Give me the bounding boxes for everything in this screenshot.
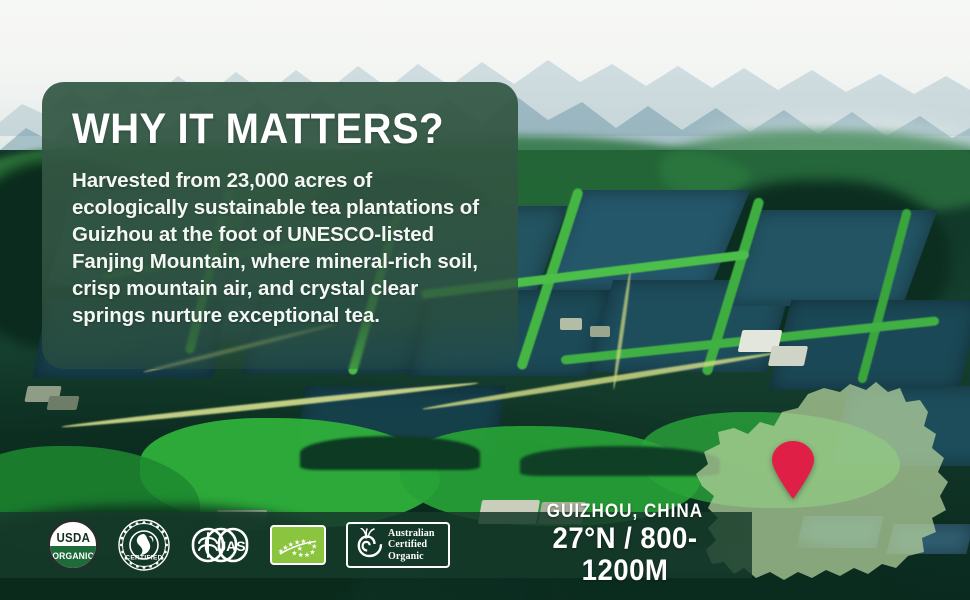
svg-text:CERTIFIED: CERTIFIED: [125, 555, 162, 562]
badge-usda-organic: USDA ORGANIC: [48, 520, 98, 570]
water-pond: [886, 524, 970, 554]
panel-body-text: Harvested from 23,000 acres of ecologica…: [72, 167, 488, 329]
aco-line-1: Australian: [388, 528, 435, 539]
badge-jas-organic: JAS: [190, 524, 250, 566]
aco-line-3: Organic: [388, 551, 424, 562]
conifer-row: [520, 446, 720, 476]
jas-organic-icon: JAS: [190, 524, 250, 566]
china-organic-seal-icon: CERTIFIED: [118, 519, 170, 571]
location-block: GUIZHOU, CHINA 27°N / 800-1200M: [500, 514, 750, 576]
why-it-matters-panel: WHY IT MATTERS? Harvested from 23,000 ac…: [42, 82, 518, 369]
usda-label-top: USDA: [56, 531, 90, 545]
aco-line-2: Certified: [388, 539, 427, 550]
location-place: GUIZHOU, CHINA: [547, 502, 703, 522]
page-title: WHY IT MATTERS?: [72, 108, 459, 151]
badge-australian-certified-organic: Australian Certified Organic: [346, 522, 450, 568]
eu-organic-euroleaf-icon: [270, 525, 326, 565]
aco-spiral-icon: [353, 528, 383, 562]
location-coordinates: 27°N / 800-1200M: [510, 523, 740, 588]
badge-china-organic: CERTIFIED: [118, 519, 170, 571]
village-building: [47, 396, 80, 410]
jas-label: JAS: [218, 538, 245, 554]
water-pond: [796, 516, 884, 548]
map-pin-icon: [770, 441, 816, 499]
conifer-row: [300, 436, 480, 470]
village-building: [560, 318, 582, 330]
origin-banner: USDA ORGANIC: [0, 0, 970, 600]
certification-badges: USDA ORGANIC: [48, 516, 450, 574]
building-roof: [768, 346, 808, 366]
usda-label-bottom: ORGANIC: [52, 551, 94, 562]
badge-eu-organic: [270, 525, 326, 565]
usda-organic-seal-icon: USDA ORGANIC: [48, 520, 98, 570]
village-building: [590, 326, 610, 337]
